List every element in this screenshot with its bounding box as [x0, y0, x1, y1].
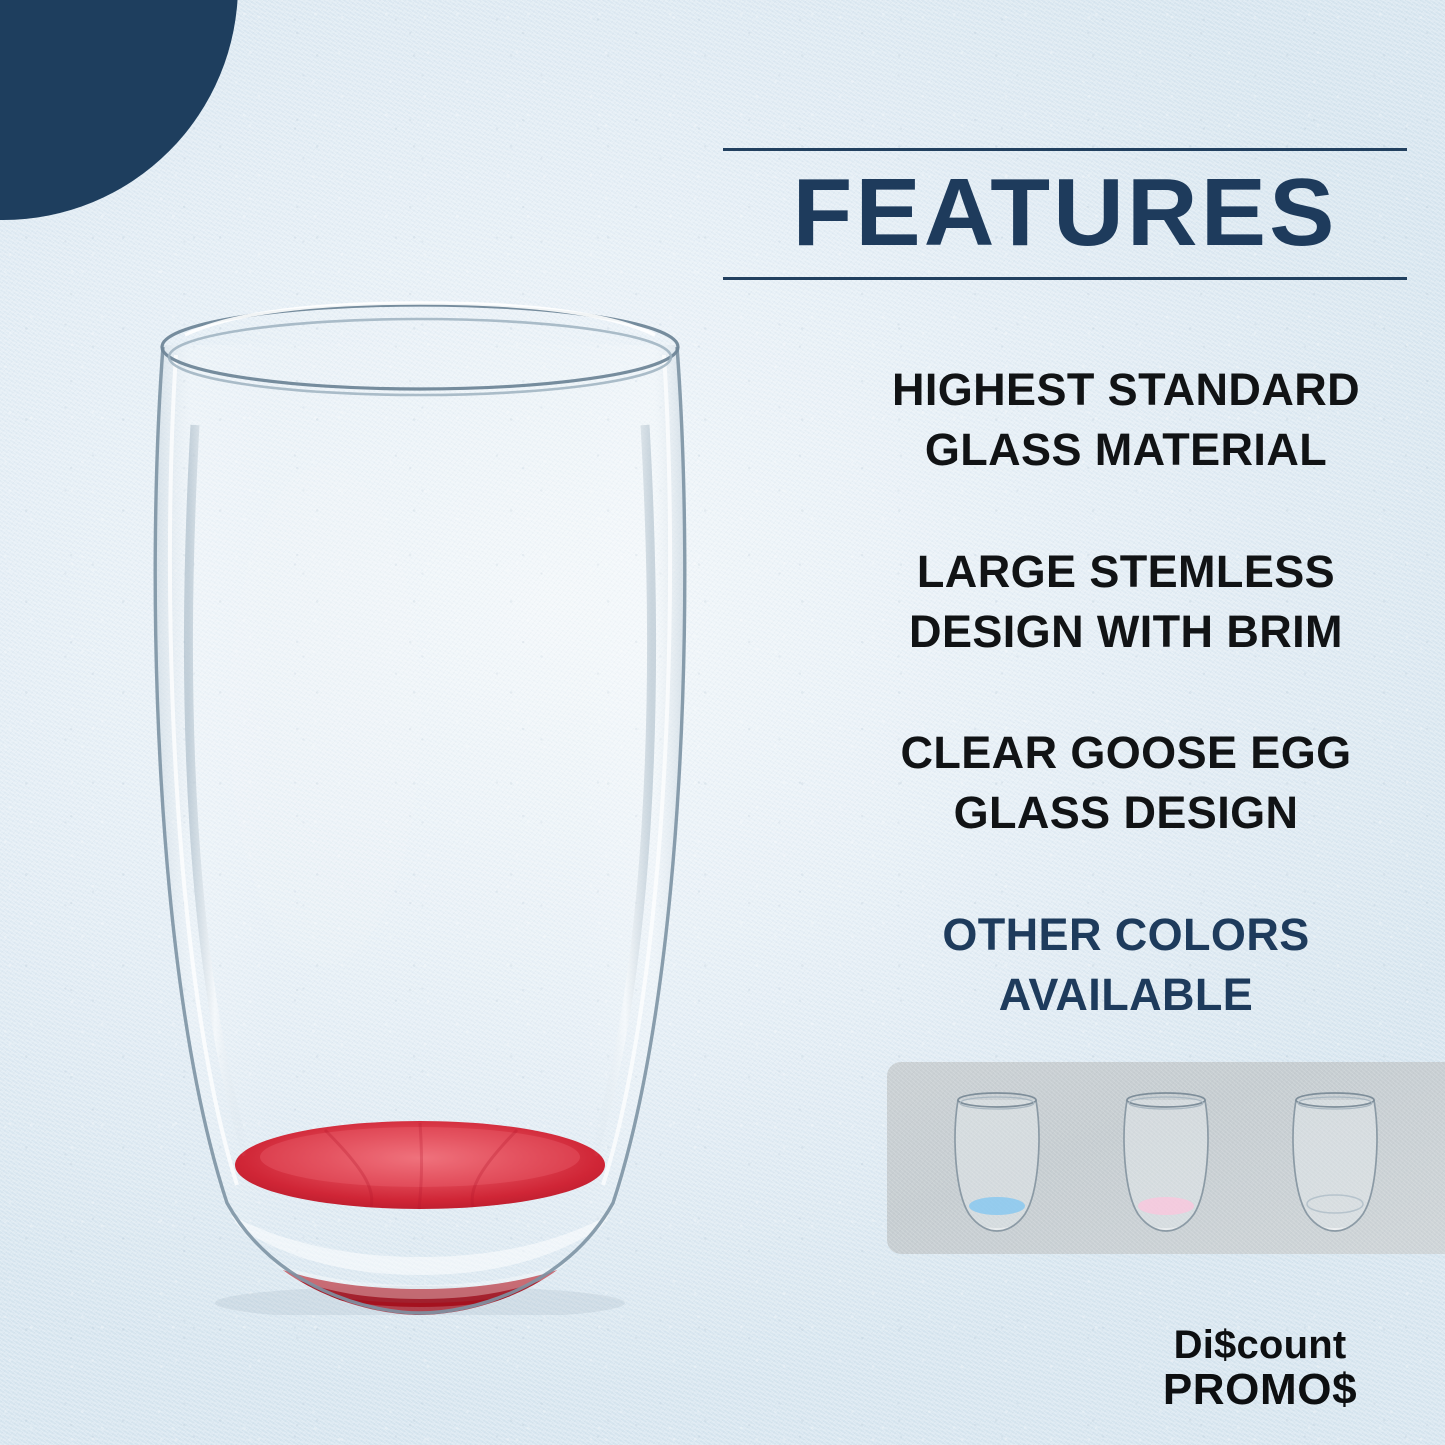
product-image-wine-glass — [75, 285, 765, 1315]
logo-line-promos: PROMO$ — [1110, 1367, 1410, 1413]
product-feature-graphic: FEATURES HIGHEST STANDARD GLASS MATERIAL… — [0, 0, 1445, 1445]
feature-item-goose-egg-design: CLEAR GOOSE EGG GLASS DESIGN — [836, 723, 1416, 843]
color-options-panel — [887, 1062, 1445, 1254]
feature-item-stemless-design: LARGE STEMLESS DESIGN WITH BRIM — [836, 542, 1416, 662]
feature-list: HIGHEST STANDARD GLASS MATERIAL LARGE ST… — [836, 360, 1416, 1025]
page-title: FEATURES — [716, 151, 1414, 277]
color-swatch-blue[interactable] — [945, 1086, 1049, 1232]
feature-line: OTHER COLORS — [836, 905, 1416, 965]
feature-item-other-colors: OTHER COLORS AVAILABLE — [836, 905, 1416, 1025]
features-header: FEATURES — [723, 148, 1407, 280]
logo-line-discount: Di$count — [1110, 1325, 1410, 1367]
color-swatch-pink[interactable] — [1114, 1086, 1218, 1232]
feature-line: GLASS DESIGN — [836, 783, 1416, 843]
feature-item-glass-material: HIGHEST STANDARD GLASS MATERIAL — [836, 360, 1416, 480]
feature-line: AVAILABLE — [836, 965, 1416, 1025]
feature-line: GLASS MATERIAL — [836, 420, 1416, 480]
color-swatch-clear[interactable] — [1283, 1086, 1387, 1232]
feature-line: DESIGN WITH BRIM — [836, 602, 1416, 662]
feature-line: CLEAR GOOSE EGG — [836, 723, 1416, 783]
header-rule-bottom — [723, 277, 1407, 280]
color-swatch-list — [887, 1062, 1445, 1254]
feature-line: LARGE STEMLESS — [836, 542, 1416, 602]
feature-line: HIGHEST STANDARD — [836, 360, 1416, 420]
brand-logo: Di$count PROMO$ — [1110, 1325, 1410, 1412]
